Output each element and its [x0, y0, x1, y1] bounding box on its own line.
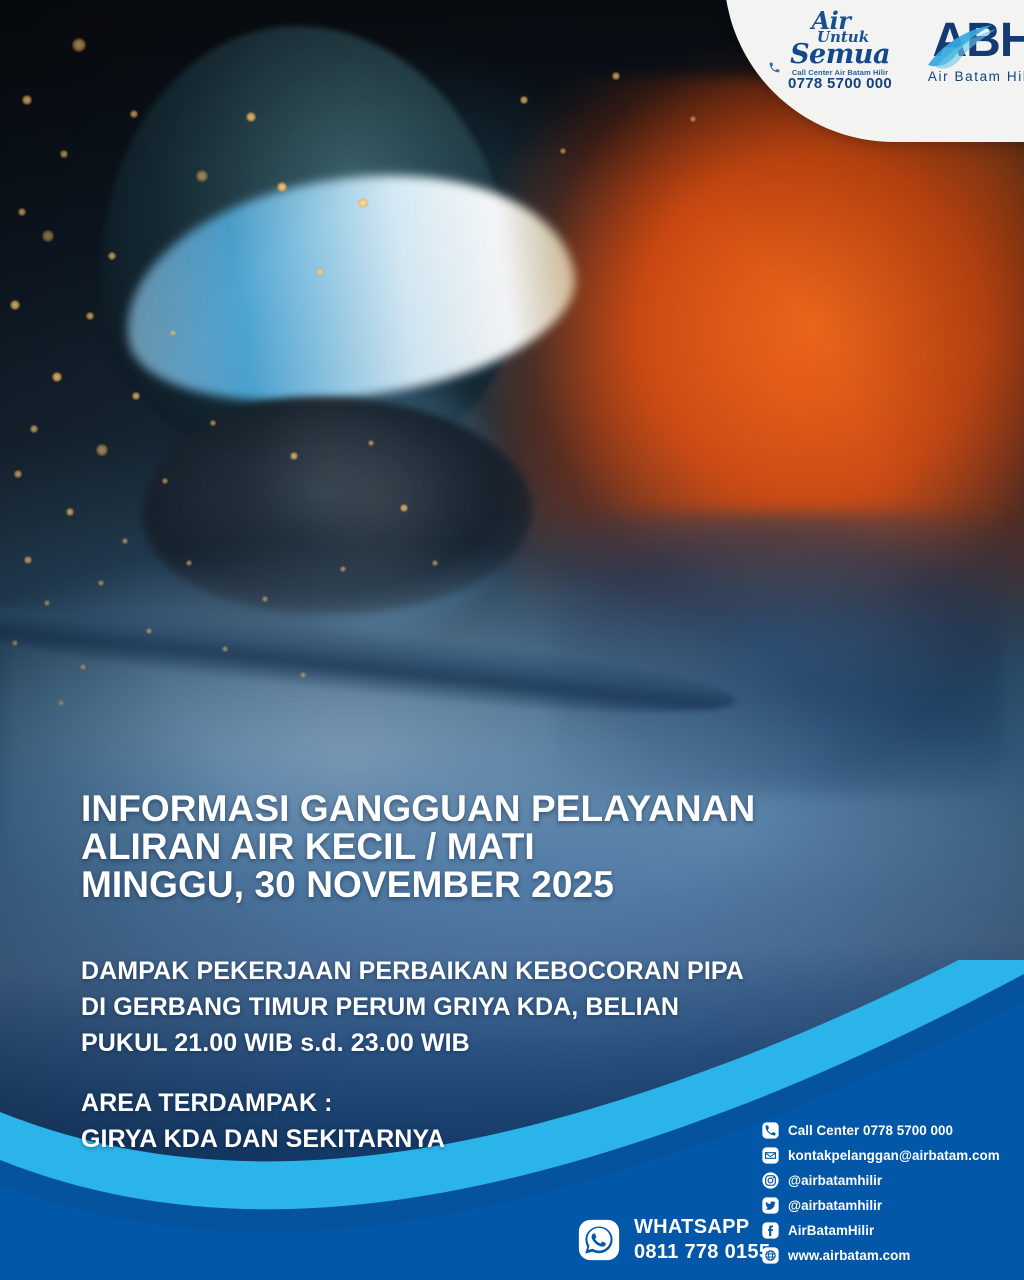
tagline-line-semua: Semua: [766, 41, 914, 68]
affected-area-label: AREA TERDAMPAK :: [81, 1085, 841, 1121]
twitter-icon: [762, 1197, 779, 1214]
poster-canvas: Air Untuk Semua Call Center Air Batam Hi…: [0, 0, 1024, 1280]
headline-block: INFORMASI GANGGUAN PELAYANAN ALIRAN AIR …: [81, 790, 961, 904]
logo-badge: Air Untuk Semua Call Center Air Batam Hi…: [724, 0, 1024, 142]
phone-icon: [762, 1122, 779, 1139]
body-spacer: [81, 1061, 841, 1085]
contact-row-instagram[interactable]: @airbatamhilir: [762, 1168, 1022, 1193]
contact-row-email[interactable]: kontakpelanggan@airbatam.com: [762, 1143, 1022, 1168]
whatsapp-block[interactable]: WHATSAPP 0811 778 0155: [578, 1215, 770, 1265]
whatsapp-number: 0811 778 0155: [634, 1240, 770, 1265]
contact-text: AirBatamHilir: [788, 1223, 874, 1238]
body-text-block: DAMPAK PEKERJAAN PERBAIKAN KEBOCORAN PIP…: [81, 953, 841, 1157]
affected-area-value: GIRYA KDA DAN SEKITARNYA: [81, 1121, 841, 1157]
contact-list: Call Center 0778 5700 000 kontakpelangga…: [762, 1118, 1022, 1268]
contact-text: www.airbatam.com: [788, 1248, 910, 1263]
contact-row-twitter[interactable]: @airbatamhilir: [762, 1193, 1022, 1218]
contact-row-website[interactable]: www.airbatam.com: [762, 1243, 1022, 1268]
abh-logo: ABH Air Batam Hilir: [920, 17, 1024, 84]
headline-line-2: ALIRAN AIR KECIL / MATI: [81, 828, 961, 866]
tagline-lockup: Air Untuk Semua Call Center Air Batam Hi…: [766, 9, 914, 92]
body-line-2: DI GERBANG TIMUR PERUM GRIYA KDA, BELIAN: [81, 989, 841, 1025]
abh-subtitle: Air Batam Hilir: [920, 70, 1024, 84]
abh-mark-text: ABH: [920, 17, 1024, 65]
phone-icon: [768, 61, 781, 74]
envelope-icon: [762, 1147, 779, 1164]
facebook-icon: [762, 1222, 779, 1239]
whatsapp-label: WHATSAPP: [634, 1215, 770, 1240]
contact-row-facebook[interactable]: AirBatamHilir: [762, 1218, 1022, 1243]
contact-row-call-center[interactable]: Call Center 0778 5700 000: [762, 1118, 1022, 1143]
contact-text: kontakpelanggan@airbatam.com: [788, 1148, 1000, 1163]
body-line-3: PUKUL 21.00 WIB s.d. 23.00 WIB: [81, 1025, 841, 1061]
contact-text: @airbatamhilir: [788, 1198, 882, 1213]
globe-icon: [762, 1247, 779, 1264]
instagram-icon: [762, 1172, 779, 1189]
tagline-call-center-number: 0778 5700 000: [766, 76, 914, 91]
body-line-1: DAMPAK PEKERJAAN PERBAIKAN KEBOCORAN PIP…: [81, 953, 841, 989]
whatsapp-icon: [578, 1219, 620, 1261]
contact-text: Call Center 0778 5700 000: [788, 1123, 953, 1138]
whatsapp-text: WHATSAPP 0811 778 0155: [634, 1215, 770, 1265]
headline-line-3: MINGGU, 30 NOVEMBER 2025: [81, 866, 961, 904]
headline-line-1: INFORMASI GANGGUAN PELAYANAN: [81, 790, 961, 828]
contact-text: @airbatamhilir: [788, 1173, 882, 1188]
